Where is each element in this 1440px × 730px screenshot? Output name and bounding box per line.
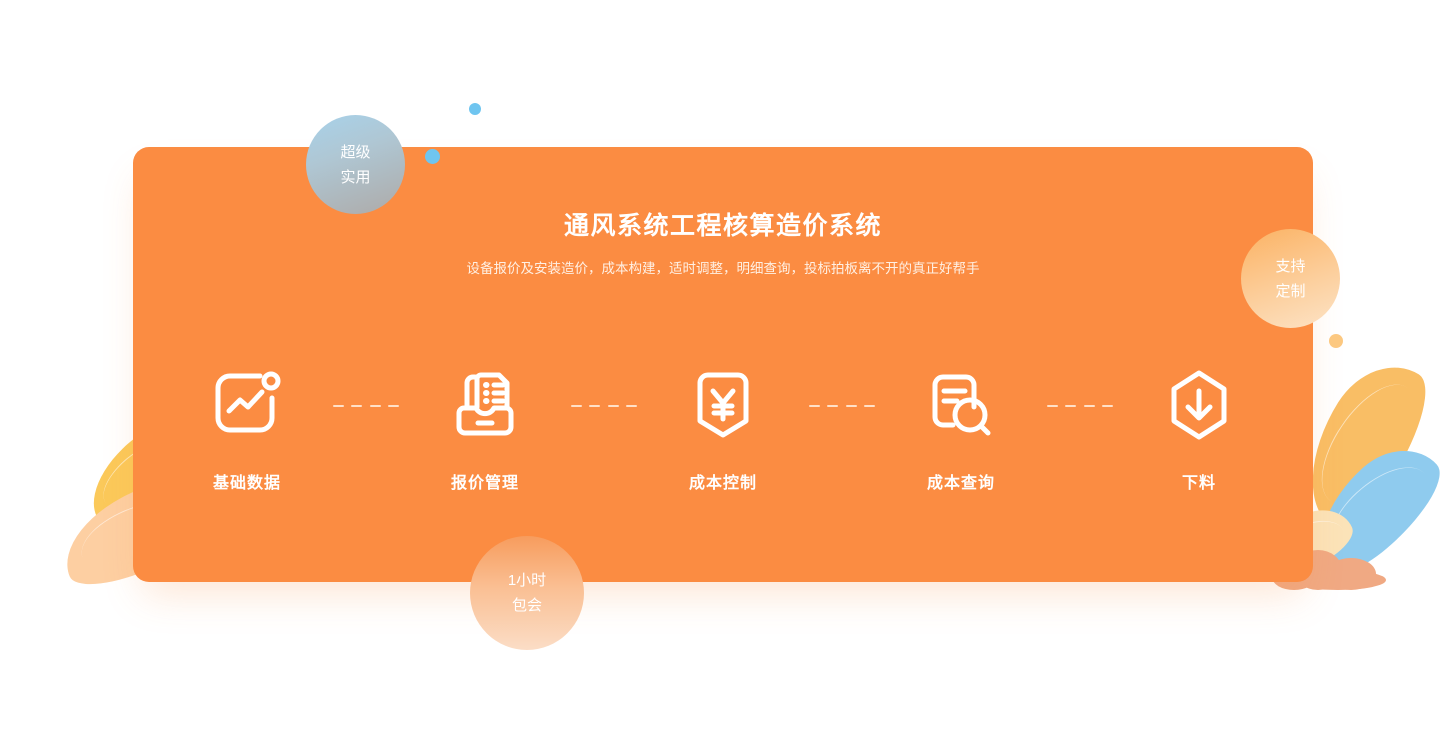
hexagon-download-icon (1159, 365, 1239, 445)
dash (388, 405, 399, 407)
dash (571, 405, 582, 407)
badge-custom-support: 支持 定制 (1241, 229, 1340, 328)
feature-label: 下料 (1182, 469, 1216, 493)
dash (1047, 405, 1058, 407)
badge-super-practical: 超级 实用 (306, 115, 405, 214)
badge-line-2: 实用 (340, 165, 370, 190)
badge-line-1: 1小时 (508, 568, 546, 593)
dot-orange-decoration (1329, 334, 1343, 348)
feature-item-cost-control[interactable]: 成本控制 (659, 365, 787, 493)
dash (864, 405, 875, 407)
dot-blue-small-decoration (469, 103, 481, 115)
dash (1102, 405, 1113, 407)
badge-line-1: 超级 (340, 140, 370, 165)
document-search-icon (921, 365, 1001, 445)
feature-label: 基础数据 (213, 469, 281, 493)
page-title: 通风系统工程核算造价系统 (133, 209, 1313, 243)
dash (608, 405, 619, 407)
connector-dashes (1047, 405, 1113, 407)
page-root: 通风系统工程核算造价系统 设备报价及安装造价，成本构建，适时调整，明细查询，投标… (0, 0, 1440, 730)
dash (589, 405, 600, 407)
badge-line-2: 定制 (1275, 279, 1305, 304)
dash (827, 405, 838, 407)
feature-item-quotation[interactable]: 报价管理 (421, 365, 549, 493)
badge-one-hour-training: 1小时 包会 (470, 536, 584, 650)
connector-dashes (571, 405, 637, 407)
badge-line-2: 包会 (512, 593, 542, 618)
dot-blue-large-decoration (425, 149, 440, 164)
yuan-tag-icon (683, 365, 763, 445)
connector-dashes (809, 405, 875, 407)
inbox-document-icon (445, 365, 525, 445)
connector-dashes (333, 405, 399, 407)
feature-label: 成本控制 (689, 469, 757, 493)
feature-list: 基础数据 (183, 365, 1263, 493)
page-subtitle: 设备报价及安装造价，成本构建，适时调整，明细查询，投标拍板离不开的真正好帮手 (463, 257, 983, 281)
badge-line-1: 支持 (1275, 254, 1305, 279)
dash (351, 405, 362, 407)
dash (626, 405, 637, 407)
promo-card: 通风系统工程核算造价系统 设备报价及安装造价，成本构建，适时调整，明细查询，投标… (133, 147, 1313, 582)
dash (846, 405, 857, 407)
dash (370, 405, 381, 407)
feature-item-cost-search[interactable]: 成本查询 (897, 365, 1025, 493)
chart-square-icon (207, 365, 287, 445)
dash (333, 405, 344, 407)
feature-item-cutting[interactable]: 下料 (1135, 365, 1263, 493)
dash (1084, 405, 1095, 407)
dash (809, 405, 820, 407)
feature-label: 报价管理 (451, 469, 519, 493)
feature-item-basic-data[interactable]: 基础数据 (183, 365, 311, 493)
card-header: 通风系统工程核算造价系统 设备报价及安装造价，成本构建，适时调整，明细查询，投标… (133, 209, 1313, 281)
dash (1065, 405, 1076, 407)
feature-label: 成本查询 (927, 469, 995, 493)
